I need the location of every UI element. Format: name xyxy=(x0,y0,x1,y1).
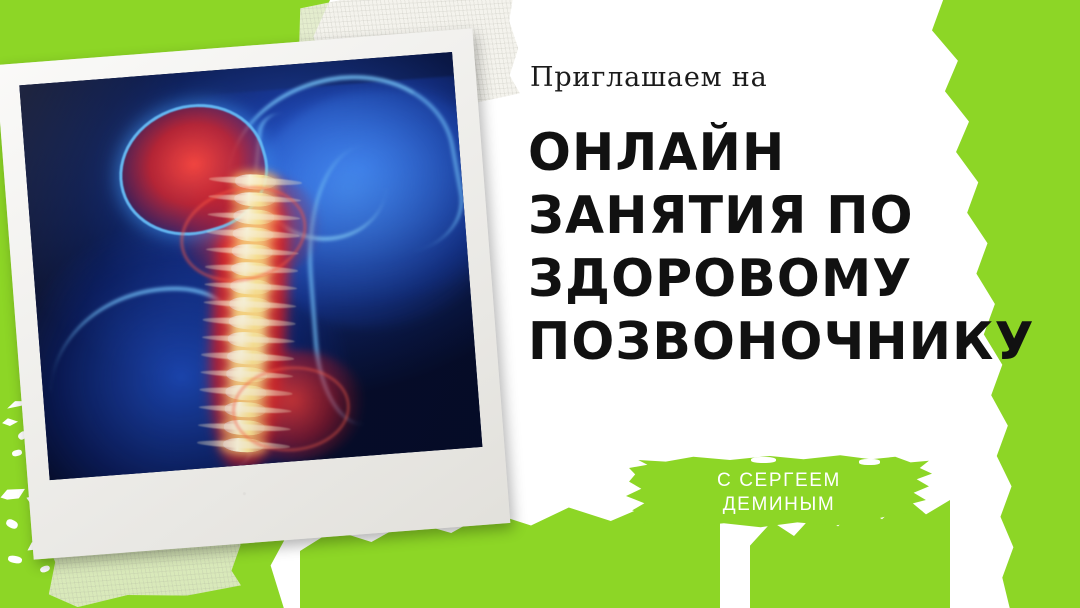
polaroid-frame xyxy=(0,28,510,559)
headline-line: ЗДОРОВОМУ xyxy=(528,248,984,311)
promo-banner: Приглашаем на ОНЛАЙН ЗАНЯТИЯ ПО ЗДОРОВОМ… xyxy=(0,0,1080,608)
page-title: ОНЛАЙН ЗАНЯТИЯ ПО ЗДОРОВОМУ ПОЗВОНОЧНИКУ xyxy=(528,122,998,374)
badge-line: С СЕРГЕЕМ xyxy=(717,469,841,492)
presenter-badge-text: С СЕРГЕЕМ ДЕМИНЫМ xyxy=(626,452,932,532)
headline-line: ОНЛАЙН xyxy=(528,122,984,185)
eyebrow-text: Приглашаем на xyxy=(530,62,767,93)
headline-line: ПОЗВОНОЧНИКУ xyxy=(528,311,984,374)
presenter-badge[interactable]: С СЕРГЕЕМ ДЕМИНЫМ xyxy=(626,452,932,532)
xray-illustration xyxy=(19,52,482,480)
badge-line: ДЕМИНЫМ xyxy=(723,493,836,516)
spine-xray-photo xyxy=(19,52,482,480)
headline-line: ЗАНЯТИЯ ПО xyxy=(528,185,984,248)
